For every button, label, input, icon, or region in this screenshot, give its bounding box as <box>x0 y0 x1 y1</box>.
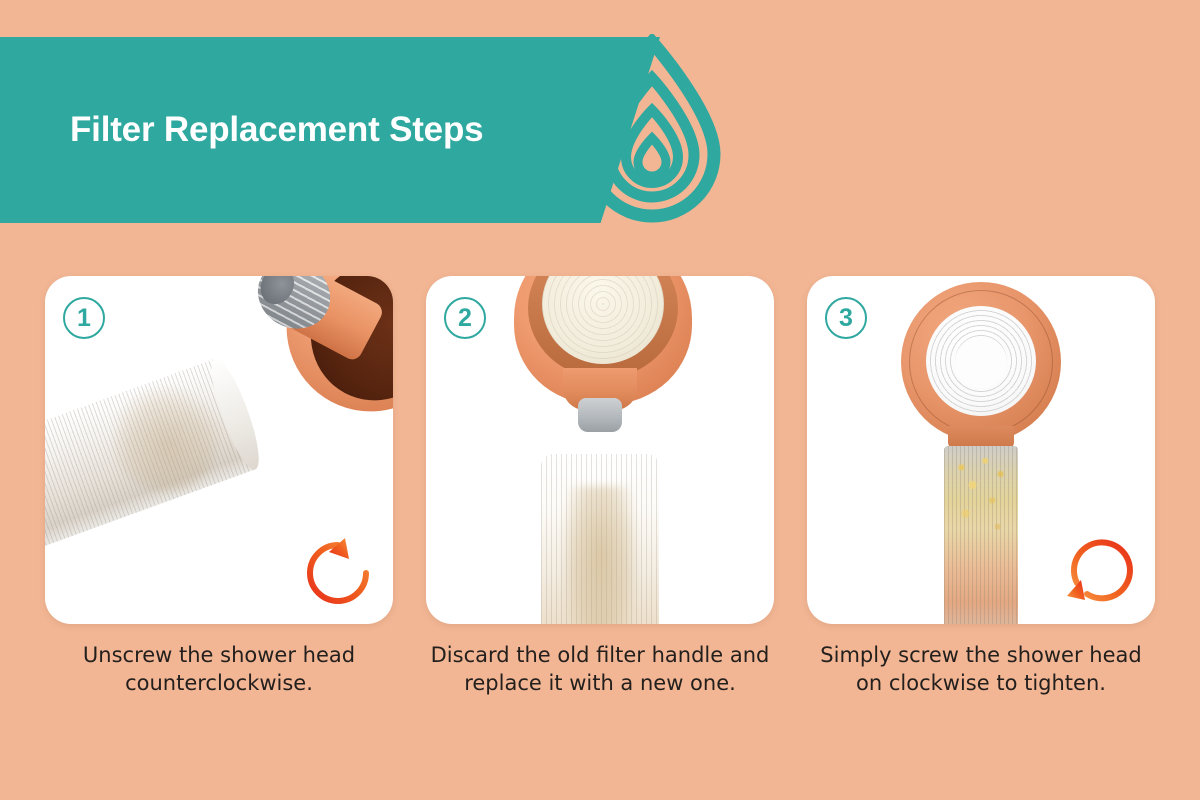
caption-row: Unscrew the shower head counterclockwise… <box>45 642 1155 698</box>
step-caption-1: Unscrew the shower head counterclockwise… <box>45 642 393 698</box>
clockwise-arrow-icon <box>1061 534 1139 612</box>
infographic-page: Filter Replacement Steps <box>0 0 1200 800</box>
step-card-2[interactable]: 2 <box>426 276 774 624</box>
step-card-1[interactable]: 1 <box>45 276 393 624</box>
filter-media-beads <box>946 452 1016 562</box>
old-filter-cartridge <box>45 355 266 551</box>
shower-head-threaded-tip <box>578 398 622 432</box>
step-number-badge-2: 2 <box>444 297 486 339</box>
step-number-badge-1: 1 <box>63 297 105 339</box>
step-caption-2: Discard the old filter handle and replac… <box>426 642 774 698</box>
face-plate-center <box>955 336 1007 388</box>
step-caption-3: Simply screw the shower head on clockwis… <box>807 642 1155 698</box>
step-card-3[interactable]: 3 <box>807 276 1155 624</box>
connector-opening <box>254 276 300 310</box>
page-title: Filter Replacement Steps <box>70 110 483 150</box>
cartridge-grime <box>564 486 636 624</box>
water-droplet-icon <box>572 34 732 224</box>
counterclockwise-arrow-icon <box>299 534 377 612</box>
steps-card-row: 1 <box>45 276 1155 624</box>
step-number-badge-3: 3 <box>825 297 867 339</box>
